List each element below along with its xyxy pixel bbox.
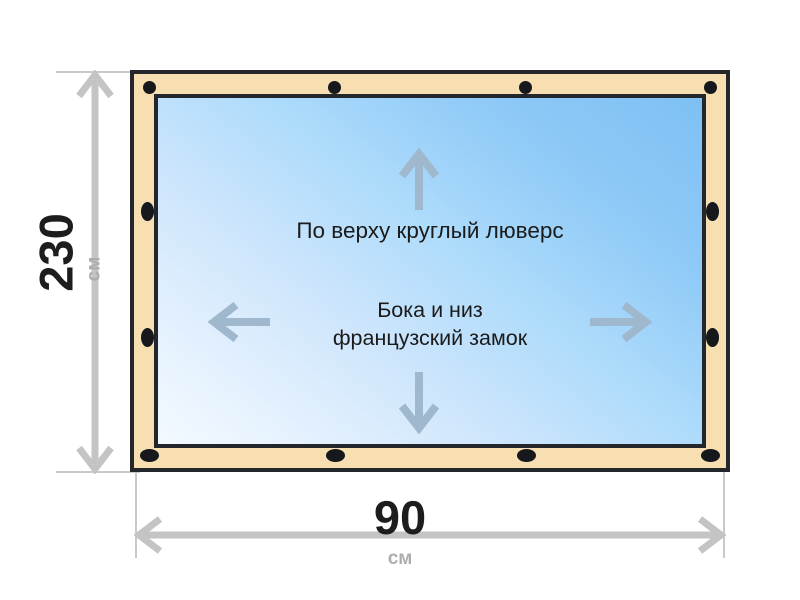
caption-sides-bottom-lock: Бока и низ французский замок — [158, 296, 702, 353]
product-frame: По верху круглый люверс Бока и низ франц… — [130, 70, 730, 472]
grommet-corner-top-left — [143, 81, 156, 94]
grommet-bottom-2 — [517, 449, 536, 462]
grommet-right-2 — [706, 328, 719, 347]
grommet-corner-bottom-right — [701, 449, 720, 462]
width-dimension-value: 90 — [0, 490, 800, 545]
grommet-corner-bottom-left — [140, 449, 159, 462]
grommet-top-1 — [328, 81, 341, 94]
height-dimension-unit: см — [83, 257, 105, 282]
grommet-left-1 — [141, 202, 154, 221]
grommet-right-1 — [706, 202, 719, 221]
grommet-bottom-1 — [326, 449, 345, 462]
grommet-top-2 — [519, 81, 532, 94]
product-panel: По верху круглый люверс Бока и низ франц… — [154, 94, 706, 448]
width-dimension-unit: см — [0, 548, 800, 570]
arrow-up-icon — [398, 148, 440, 214]
grommet-corner-top-right — [704, 81, 717, 94]
arrow-down-icon — [398, 368, 440, 434]
height-dimension-value: 230 — [29, 213, 84, 291]
grommet-left-2 — [141, 328, 154, 347]
caption-top-grommet: По верху круглый люверс — [158, 216, 702, 246]
diagram-canvas: 230 см 90 см — [0, 0, 800, 600]
